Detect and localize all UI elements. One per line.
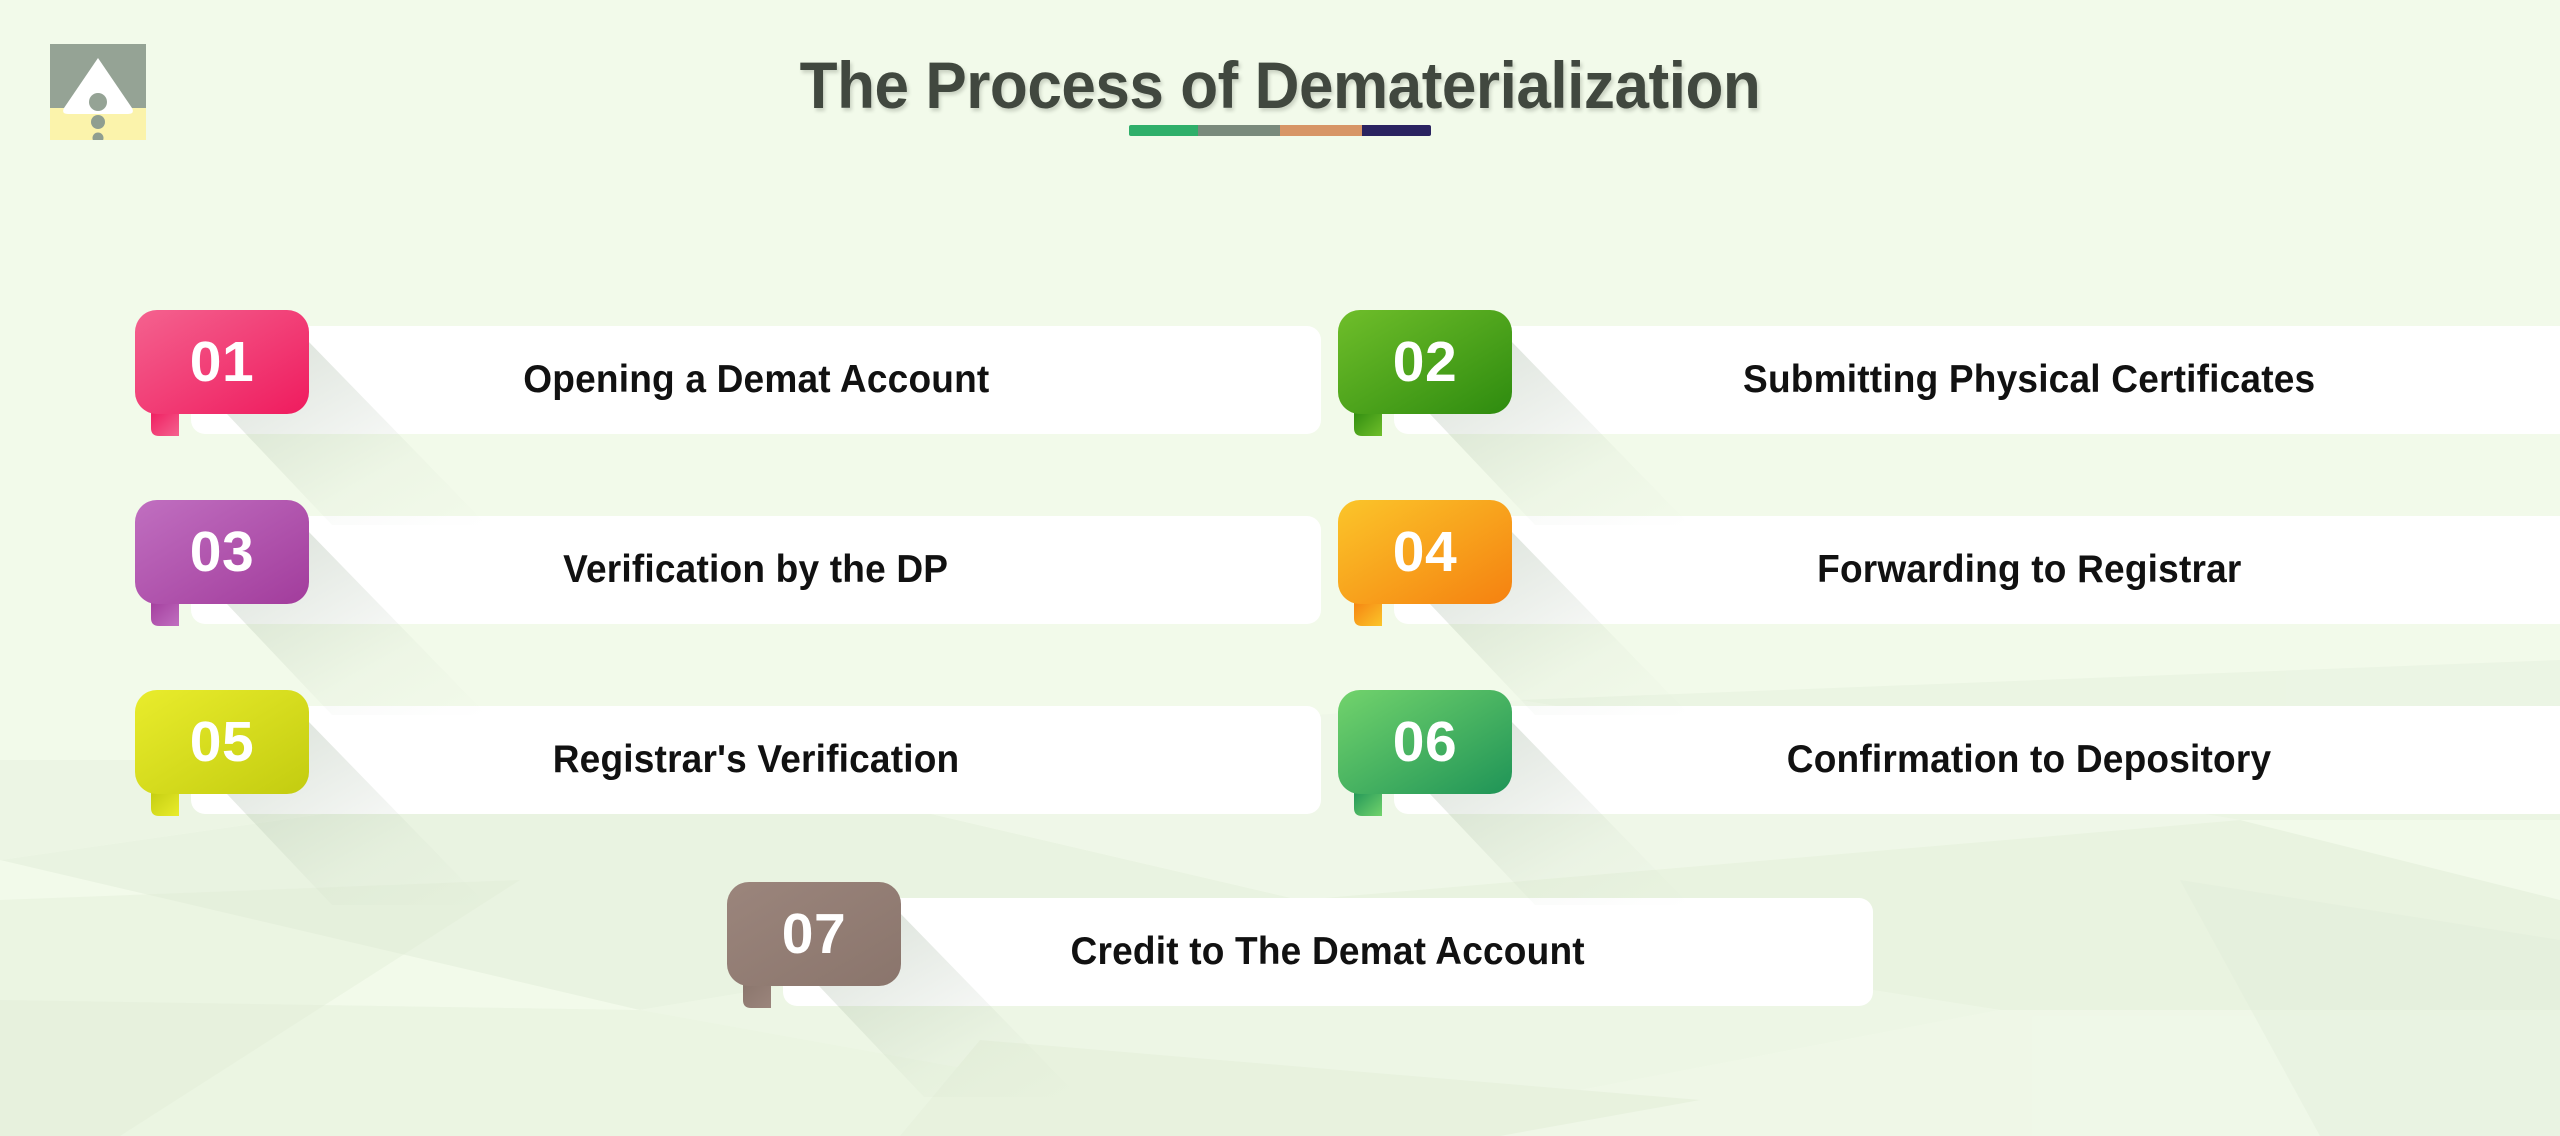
badge-bubble-shape xyxy=(135,500,309,626)
step-card[interactable]: Verification by the DP xyxy=(191,516,1321,624)
step-number-badge[interactable]: 04 xyxy=(1338,500,1512,626)
badge-bubble-shape xyxy=(1338,500,1512,626)
infographic-canvas: The Process of Dematerialization Opening… xyxy=(0,0,2560,1136)
step-card[interactable]: Forwarding to Registrar xyxy=(1394,516,2560,624)
step-number-badge[interactable]: 06 xyxy=(1338,690,1512,816)
badge-bubble-shape xyxy=(727,882,901,1008)
step-number-badge[interactable]: 07 xyxy=(727,882,901,1008)
step-number-badge[interactable]: 02 xyxy=(1338,310,1512,436)
process-step[interactable]: Submitting Physical Certificates02 xyxy=(1338,310,2560,436)
badge-bubble-shape xyxy=(1338,310,1512,436)
steps-container: Opening a Demat Account01Submitting Phys… xyxy=(0,0,2560,1136)
step-card[interactable]: Opening a Demat Account xyxy=(191,326,1321,434)
step-card[interactable]: Confirmation to Depository xyxy=(1394,706,2560,814)
step-number-badge[interactable]: 01 xyxy=(135,310,309,436)
step-label: Confirmation to Depository xyxy=(1787,738,2272,782)
process-step[interactable]: Registrar's Verification05 xyxy=(135,690,1325,816)
step-label: Forwarding to Registrar xyxy=(1817,548,2241,592)
step-label: Registrar's Verification xyxy=(553,738,960,782)
step-card[interactable]: Submitting Physical Certificates xyxy=(1394,326,2560,434)
badge-bubble-shape xyxy=(135,690,309,816)
step-label: Opening a Demat Account xyxy=(523,358,989,402)
process-step[interactable]: Verification by the DP03 xyxy=(135,500,1325,626)
process-step[interactable]: Opening a Demat Account01 xyxy=(135,310,1325,436)
step-label: Credit to The Demat Account xyxy=(1071,930,1585,974)
badge-bubble-shape xyxy=(1338,690,1512,816)
step-card[interactable]: Registrar's Verification xyxy=(191,706,1321,814)
process-step[interactable]: Credit to The Demat Account07 xyxy=(727,882,1877,1008)
step-number-badge[interactable]: 05 xyxy=(135,690,309,816)
step-label: Submitting Physical Certificates xyxy=(1743,358,2315,402)
step-label: Verification by the DP xyxy=(563,548,948,592)
process-step[interactable]: Forwarding to Registrar04 xyxy=(1338,500,2560,626)
step-card[interactable]: Credit to The Demat Account xyxy=(783,898,1873,1006)
badge-bubble-shape xyxy=(135,310,309,436)
step-number-badge[interactable]: 03 xyxy=(135,500,309,626)
process-step[interactable]: Confirmation to Depository06 xyxy=(1338,690,2560,816)
